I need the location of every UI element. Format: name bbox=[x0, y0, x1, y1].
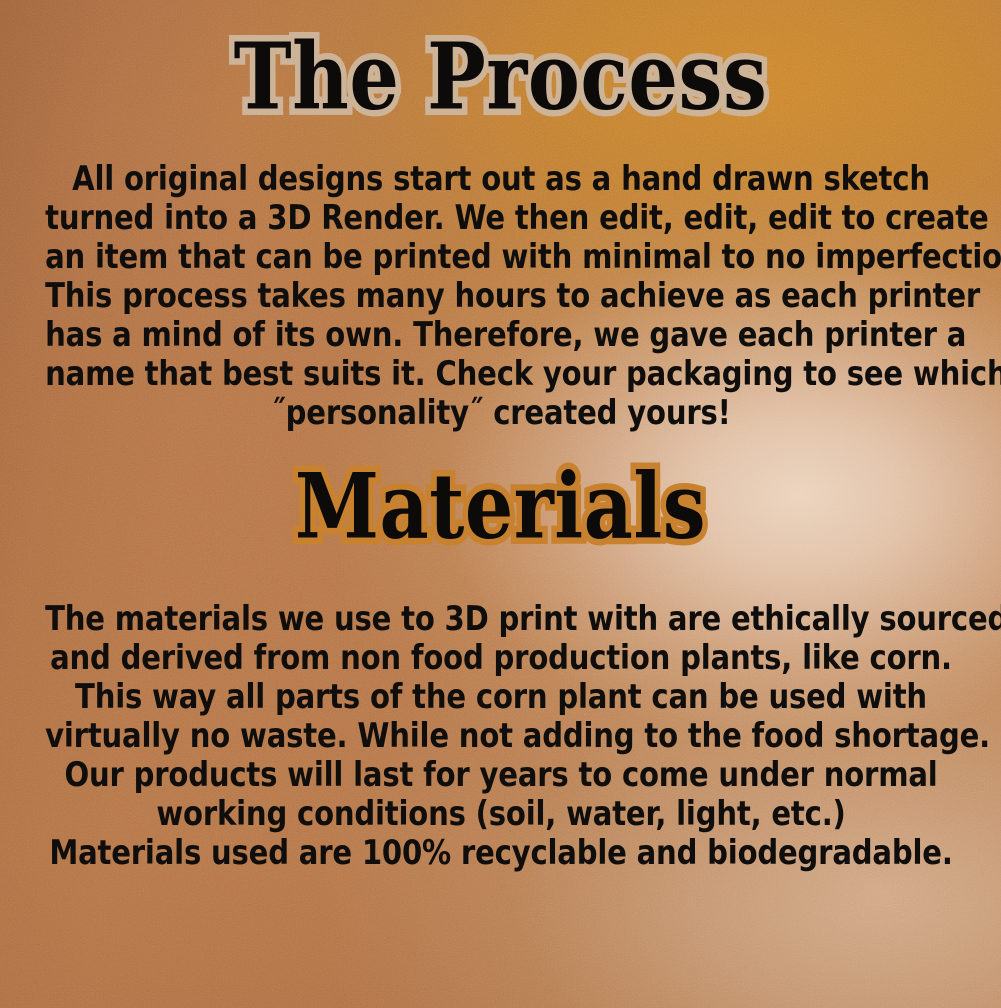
body-line: The materials we use to 3D print with ar… bbox=[45, 598, 957, 642]
section-body-process: All original designs start out as a hand… bbox=[31, 160, 971, 433]
poster-canvas: The Process All original designs start o… bbox=[0, 0, 1001, 1008]
body-line: working conditions (soil, water, light, … bbox=[45, 793, 957, 837]
body-line: an item that can be printed with minimal… bbox=[45, 236, 957, 280]
body-line: virtually no waste. While not adding to … bbox=[45, 715, 957, 759]
body-line: Materials used are 100% recyclable and b… bbox=[45, 832, 957, 876]
body-line: turned into a 3D Render. We then edit, e… bbox=[45, 197, 957, 241]
body-line: name that best suits it. Check your pack… bbox=[45, 353, 957, 397]
body-line: has a mind of its own. Therefore, we gav… bbox=[45, 314, 957, 358]
body-line: This process takes many hours to achieve… bbox=[45, 275, 957, 319]
body-line: and derived from non food production pla… bbox=[45, 637, 957, 681]
body-line: Our products will last for years to come… bbox=[45, 754, 957, 798]
poster-content: The Process All original designs start o… bbox=[0, 0, 1001, 1008]
body-line: This way all parts of the corn plant can… bbox=[45, 676, 957, 720]
body-line: ˝personality˝ created yours! bbox=[45, 392, 957, 436]
section-body-materials: The materials we use to 3D print with ar… bbox=[31, 600, 971, 873]
body-line: All original designs start out as a hand… bbox=[45, 158, 957, 202]
section-title-process: The Process bbox=[0, 32, 1001, 124]
section-title-materials: Materials bbox=[0, 462, 1001, 552]
